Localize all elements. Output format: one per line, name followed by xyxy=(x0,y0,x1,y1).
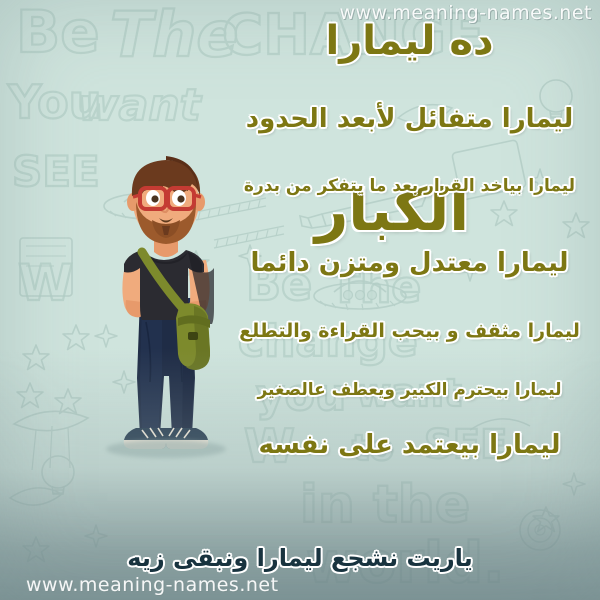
watermark-bottom: www.meaning-names.net xyxy=(26,574,279,596)
watermark-top: www.meaning-names.net xyxy=(339,2,592,24)
svg-text:want: want xyxy=(78,80,203,131)
svg-text:W: W xyxy=(18,254,73,312)
svg-text:SEE: SEE xyxy=(12,147,100,196)
trait-line-2: ليمارا بياخد القرار بعد ما يتفكر من بدرة xyxy=(227,178,592,196)
head xyxy=(127,156,205,244)
trait-line-4: ليمارا مثقف و بيحب القراءة والتطلع xyxy=(227,322,592,342)
name-meaning-card: Be The CHANGE You want SEE W Be The chan… xyxy=(0,0,600,600)
trait-line-3: ليمارا معتدل ومتزن دائما xyxy=(227,250,592,277)
trait-line-1: ليمارا متفائل لأبعد الحدود xyxy=(227,106,592,133)
character-illustration xyxy=(96,140,236,460)
page-title: ده ليمارا xyxy=(227,20,592,62)
text-content-stack: ده ليمارا ليمارا متفائل لأبعد الحدود الك… xyxy=(220,0,600,600)
svg-text:Be: Be xyxy=(16,0,100,66)
character-ground-shadow xyxy=(106,440,226,458)
footer-message: ياريت نشجع ليمارا ونبقى زيه xyxy=(0,544,600,572)
trait-line-5: ليمارا بيحترم الكبير ويعطف عالصغير xyxy=(227,382,592,400)
trait-line-6: ليمارا بيعتمد على نفسه xyxy=(227,432,592,459)
